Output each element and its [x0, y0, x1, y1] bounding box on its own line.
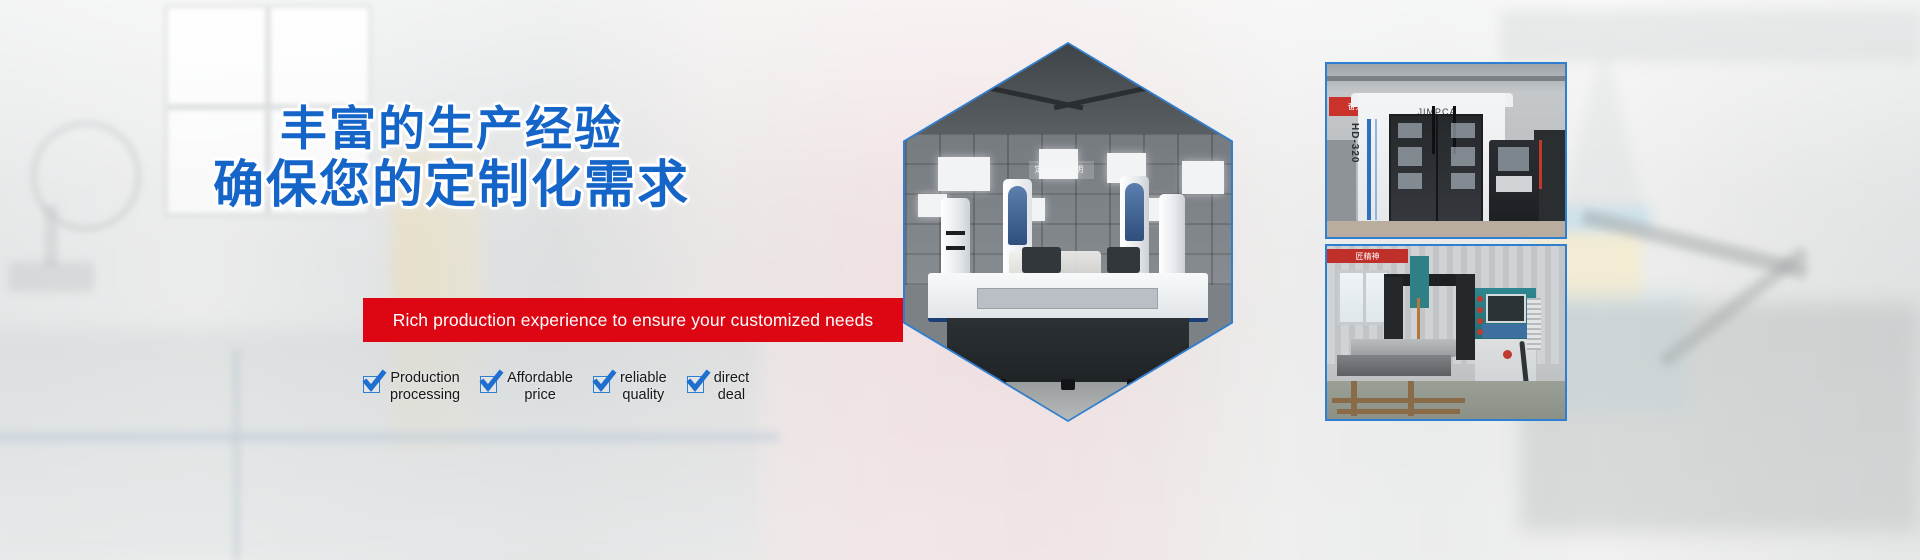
- checkmark-icon: [687, 376, 704, 393]
- checkmark-icon: [480, 376, 497, 393]
- feature-item-direct-deal[interactable]: direct deal: [687, 370, 749, 404]
- feature-item-affordable-price[interactable]: Affordable price: [480, 370, 573, 404]
- feature-label: Production processing: [390, 370, 460, 404]
- thumbnail-machining-center[interactable]: 奋力 HD-320 JIMPCA: [1325, 62, 1567, 239]
- thumbnail-edm-machine[interactable]: 匠精神: [1325, 244, 1567, 421]
- headline-line-2: 确保您的定制化需求: [0, 156, 903, 216]
- headline: 丰富的生产经验 确保您的定制化需求: [0, 104, 903, 216]
- thumbnail-wall-banner: 匠精神: [1327, 249, 1408, 263]
- subtitle-text: Rich production experience to ensure you…: [393, 310, 874, 331]
- machine-model-label: HD-320: [1349, 123, 1360, 163]
- hero-banner: 丰富的生产经验 确保您的定制化需求 Rich production experi…: [0, 0, 1920, 560]
- checkmark-icon: [593, 376, 610, 393]
- feature-item-reliable-quality[interactable]: reliable quality: [593, 370, 667, 404]
- subtitle-banner: Rich production experience to ensure you…: [363, 298, 903, 342]
- checkmark-icon: [363, 376, 380, 393]
- feature-item-production-processing[interactable]: Production processing: [363, 370, 460, 404]
- headline-line-1: 丰富的生产经验: [0, 104, 903, 156]
- feature-list: Production processing Affordable price r…: [363, 370, 833, 414]
- feature-label: Affordable price: [507, 370, 573, 404]
- feature-label: direct deal: [714, 370, 749, 404]
- workshop-wall-sign: 定 一 明: [1029, 161, 1094, 180]
- feature-label: reliable quality: [620, 370, 667, 404]
